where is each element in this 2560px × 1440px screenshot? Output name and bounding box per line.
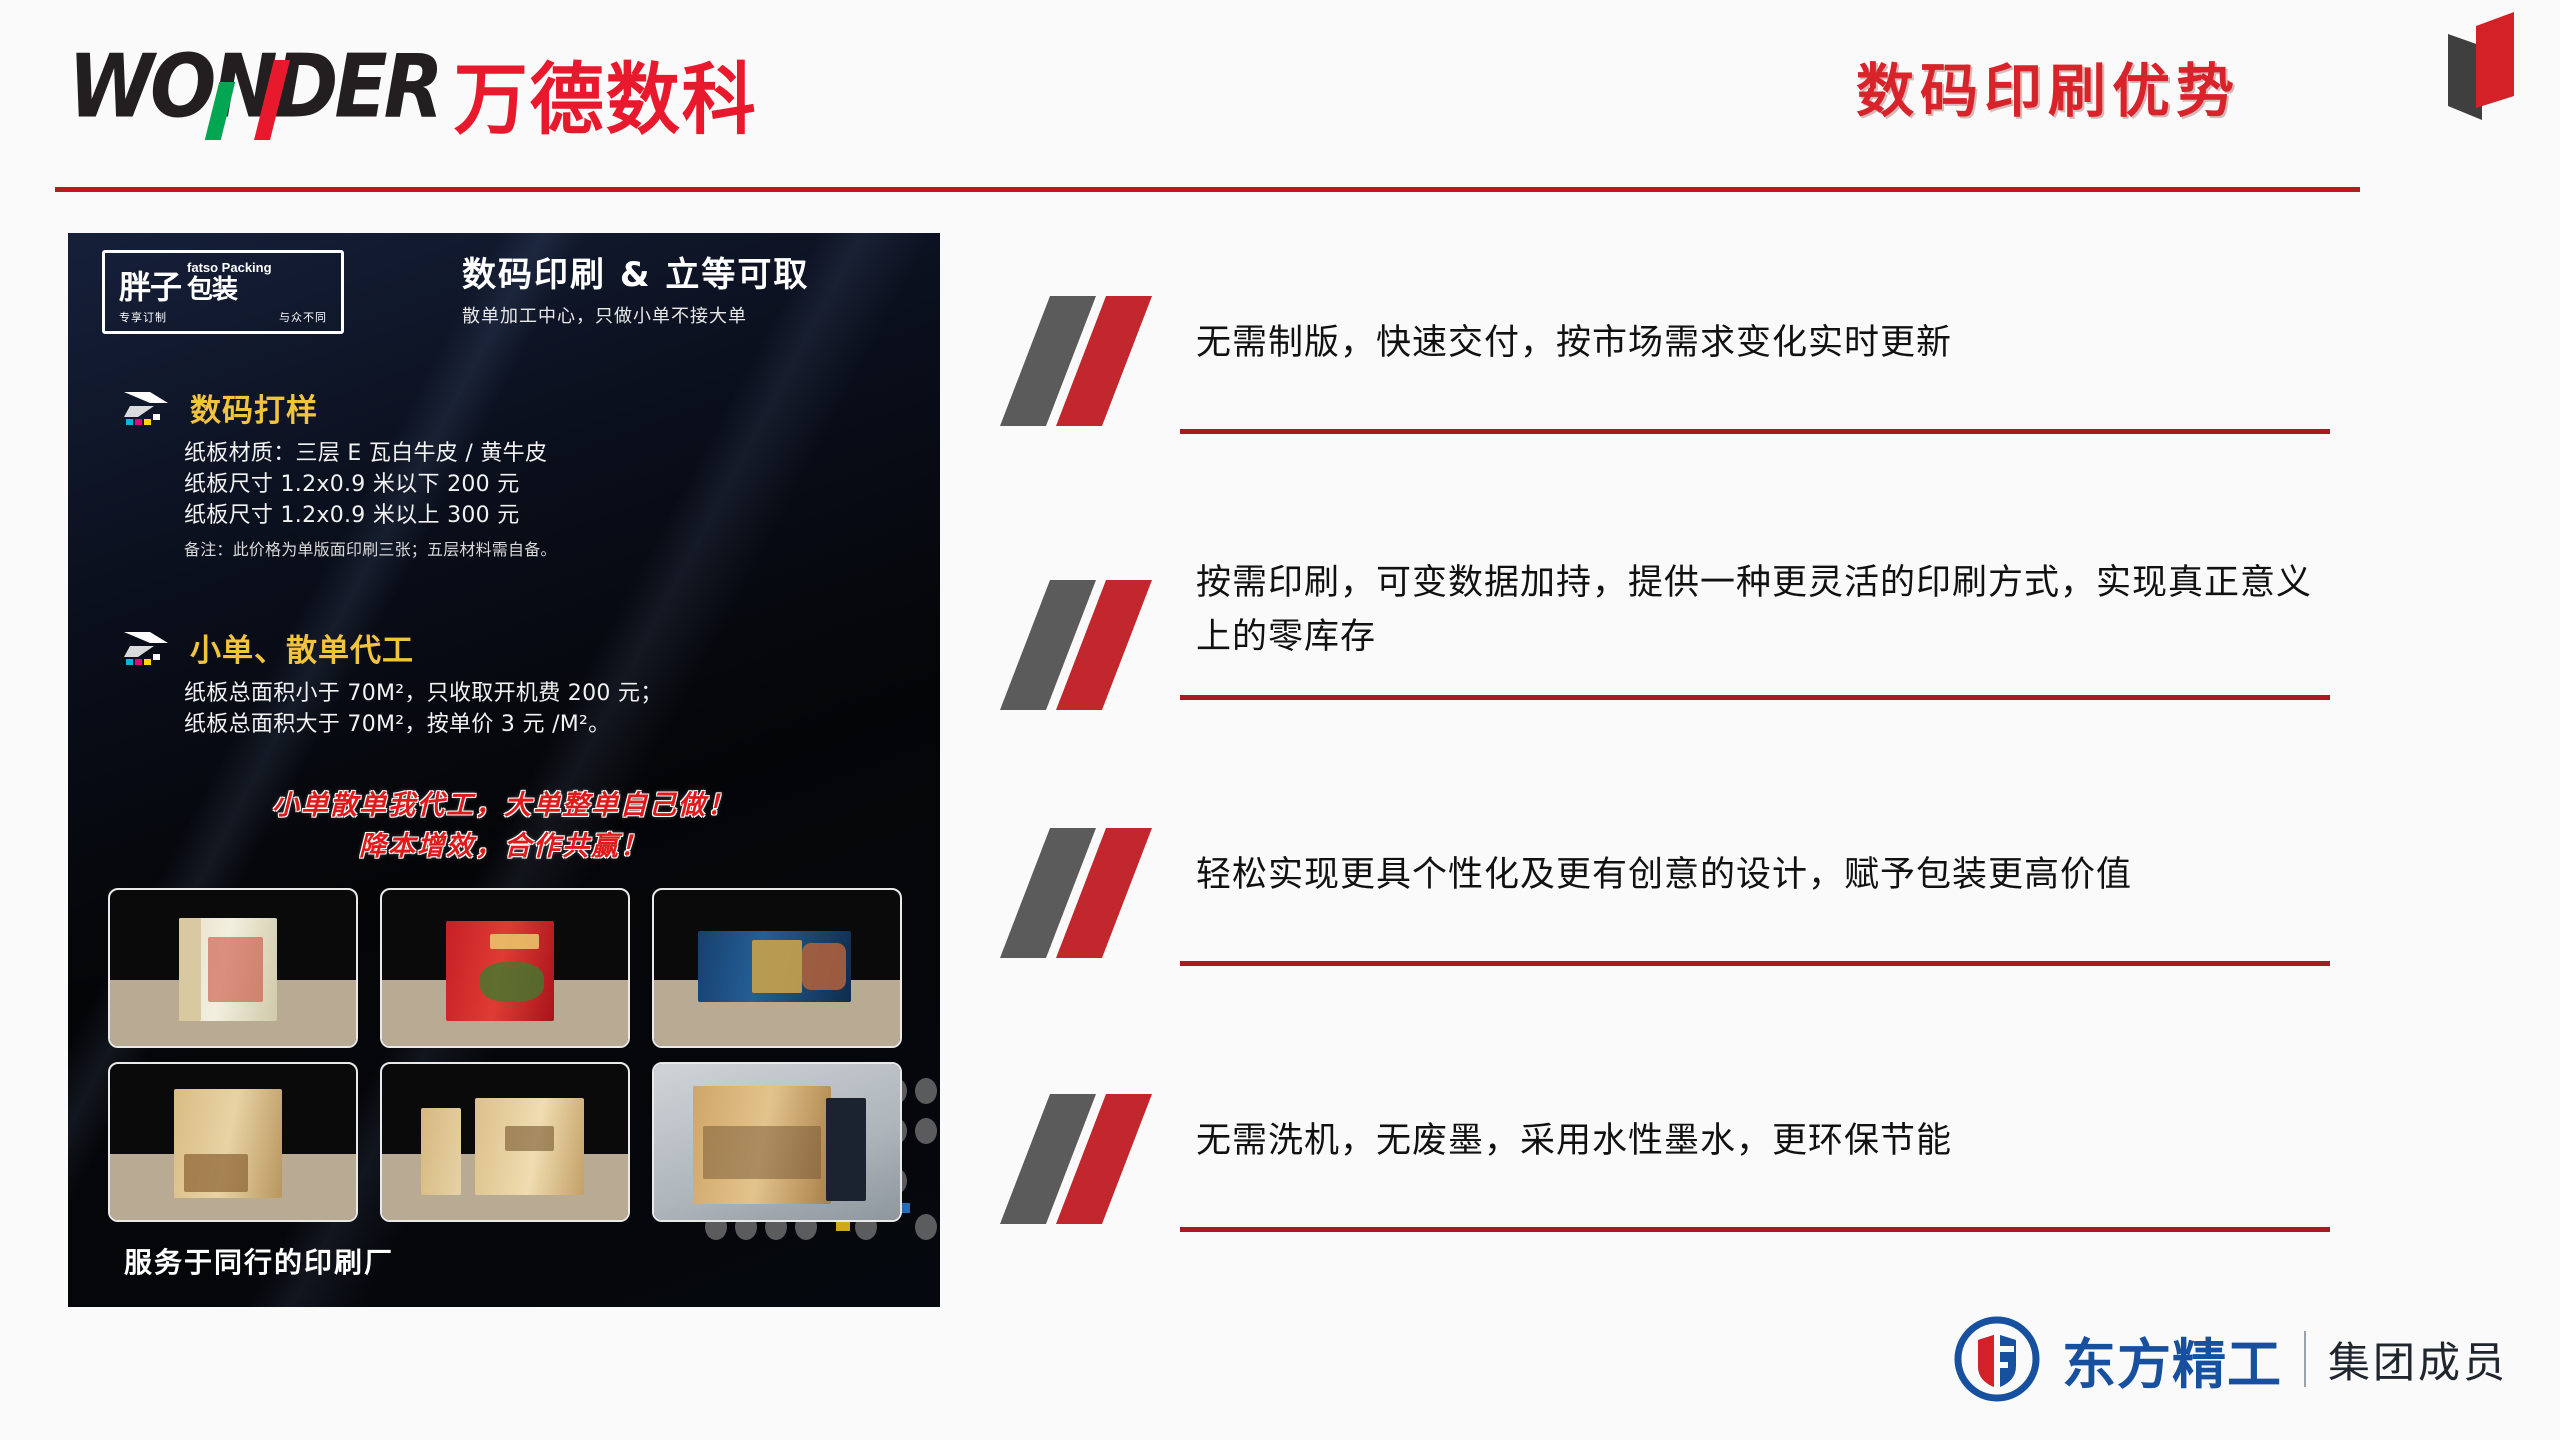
section-line: 纸板总面积大于 70M²，按单价 3 元 /M²。 [184,709,904,740]
advantage-underline [1180,1227,2330,1232]
poster-section-small-orders: 小单、散单代工 纸板总面积小于 70M²，只收取开机费 200 元； 纸板总面积… [124,625,904,740]
fatso-packing-logo: 胖子 fatso Packing 包装 专享订制 与众不同 [102,250,344,334]
brand-logo: WONDER 万德数科 [68,48,758,138]
dongfang-jingong-mark-icon [1954,1316,2040,1402]
double-slash-bullet-icon [1000,822,1190,970]
slogan-line-2: 降本增效，合作共赢！ [68,827,940,868]
advantage-text: 无需洗机，无废墨，采用水性墨水，更环保节能 [1196,1114,2336,1168]
page-title: 数码印刷优势 [1856,44,2240,128]
fatso-tag-left: 专享订制 [119,309,167,325]
fatso-logo-sub: 包装 [187,277,272,303]
group-member-logo: 东方精工 集团成员 [1954,1316,2508,1402]
poster-headline-block: 数码印刷 & 立等可取 散单加工中心，只做小单不接大单 [462,256,809,327]
product-photo [108,1062,358,1222]
poster-footer-text: 服务于同行的印刷厂 [124,1241,394,1281]
section-title: 小单、散单代工 [190,625,414,670]
section-line: 纸板材质：三层 E 瓦白牛皮 / 黄牛皮 [184,438,904,469]
wonder-latin-text: WONDER [68,37,440,138]
chevron-arrow-icon [124,390,176,426]
section-line: 纸板尺寸 1.2x0.9 米以下 200 元 [184,469,904,500]
advantage-text: 无需制版，快速交付，按市场需求变化实时更新 [1196,316,2336,370]
poster-slogan: 小单散单我代工，大单整单自己做！ 降本增效，合作共赢！ [68,786,940,867]
advantage-item: 无需制版，快速交付，按市场需求变化实时更新 [1000,290,2360,440]
section-title: 数码打样 [190,385,318,430]
wonder-wordmark: WONDER [68,48,440,138]
product-photo [108,888,358,1048]
poster-section-digital-proofing: 数码打样 纸板材质：三层 E 瓦白牛皮 / 黄牛皮 纸板尺寸 1.2x0.9 米… [124,385,904,560]
group-logo-name: 东方精工 [2062,1320,2282,1399]
advantage-text: 轻松实现更具个性化及更有创意的设计，赋予包装更高价值 [1196,848,2336,902]
brand-chinese-name: 万德数科 [454,37,758,149]
fatso-logo-main: 胖子 [119,271,181,303]
logo-divider [2304,1331,2306,1387]
double-slash-bullet-icon [1000,1088,1190,1236]
advantages-list: 无需制版，快速交付，按市场需求变化实时更新 按需印刷，可变数据加持，提供一种更灵… [1000,290,2360,1238]
header-divider [55,187,2360,192]
section-line: 纸板尺寸 1.2x0.9 米以上 300 元 [184,500,904,531]
product-photo [652,1062,902,1222]
advantage-item: 按需印刷，可变数据加持，提供一种更灵活的印刷方式，实现真正意义上的零库存 [1000,556,2360,706]
advantage-underline [1180,961,2330,966]
fatso-tag-right: 与众不同 [279,309,327,325]
double-slash-bullet-icon [1000,574,1190,722]
double-slash-bullet-icon [1000,290,1190,438]
poster-headline: 数码印刷 & 立等可取 [462,256,809,295]
slogan-line-1: 小单散单我代工，大单整单自己做！ [68,786,940,827]
advantage-item: 轻松实现更具个性化及更有创意的设计，赋予包装更高价值 [1000,822,2360,972]
advantage-item: 无需洗机，无废墨，采用水性墨水，更环保节能 [1000,1088,2360,1238]
advantage-underline [1180,695,2330,700]
promo-poster: 胖子 fatso Packing 包装 专享订制 与众不同 数码印刷 & 立等可… [68,233,940,1307]
advantage-underline [1180,429,2330,434]
group-logo-subtitle: 集团成员 [2328,1329,2508,1390]
section-line: 纸板总面积小于 70M²，只收取开机费 200 元； [184,678,904,709]
poster-subheadline: 散单加工中心，只做小单不接大单 [462,302,809,328]
advantage-text: 按需印刷，可变数据加持，提供一种更灵活的印刷方式，实现真正意义上的零库存 [1196,556,2336,665]
product-photo [652,888,902,1048]
chevron-arrow-icon [124,630,176,666]
product-photo [380,888,630,1048]
product-photo-grid [108,888,902,1222]
corner-bookmark-icon [2442,8,2520,128]
slide-root: WONDER 万德数科 数码印刷优势 胖子 fatso Packing 包装 [0,0,2560,1440]
poster-header: 胖子 fatso Packing 包装 专享订制 与众不同 数码印刷 & 立等可… [68,233,940,351]
section-note: 备注：此价格为单版面印刷三张；五层材料需自备。 [184,536,904,560]
product-photo [380,1062,630,1222]
